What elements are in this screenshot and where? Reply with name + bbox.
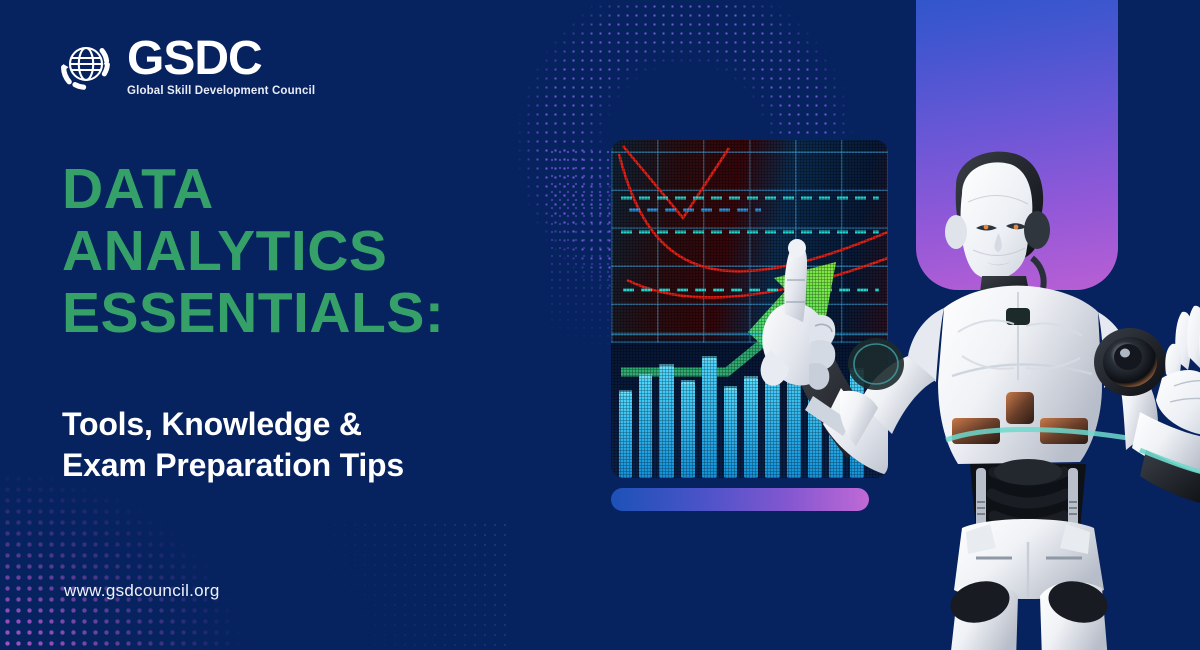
gsdc-logo[interactable]: GSDC Global Skill Development Council [55, 34, 315, 98]
logo-wordmark: GSDC [127, 34, 315, 84]
logo-text-block: GSDC Global Skill Development Council [127, 34, 315, 98]
robot-right-arm [1094, 306, 1200, 506]
humanoid-robot-illustration [840, 150, 1200, 650]
subheadline-line-1: Tools, Knowledge & [62, 404, 404, 445]
subheadline-line-2: Exam Preparation Tips [62, 445, 404, 486]
banner-canvas: GSDC Global Skill Development Council DA… [0, 0, 1200, 650]
headline-title: DATA ANALYTICS ESSENTIALS: [62, 158, 532, 344]
logo-tagline: Global Skill Development Council [127, 85, 315, 98]
tagline-dot-field-decoration [250, 520, 510, 650]
globe-orbit-icon [55, 34, 121, 96]
website-url[interactable]: www.gsdcouncil.org [64, 581, 220, 601]
subheadline: Tools, Knowledge & Exam Preparation Tips [62, 404, 404, 486]
accent-gradient-bar [611, 488, 869, 511]
